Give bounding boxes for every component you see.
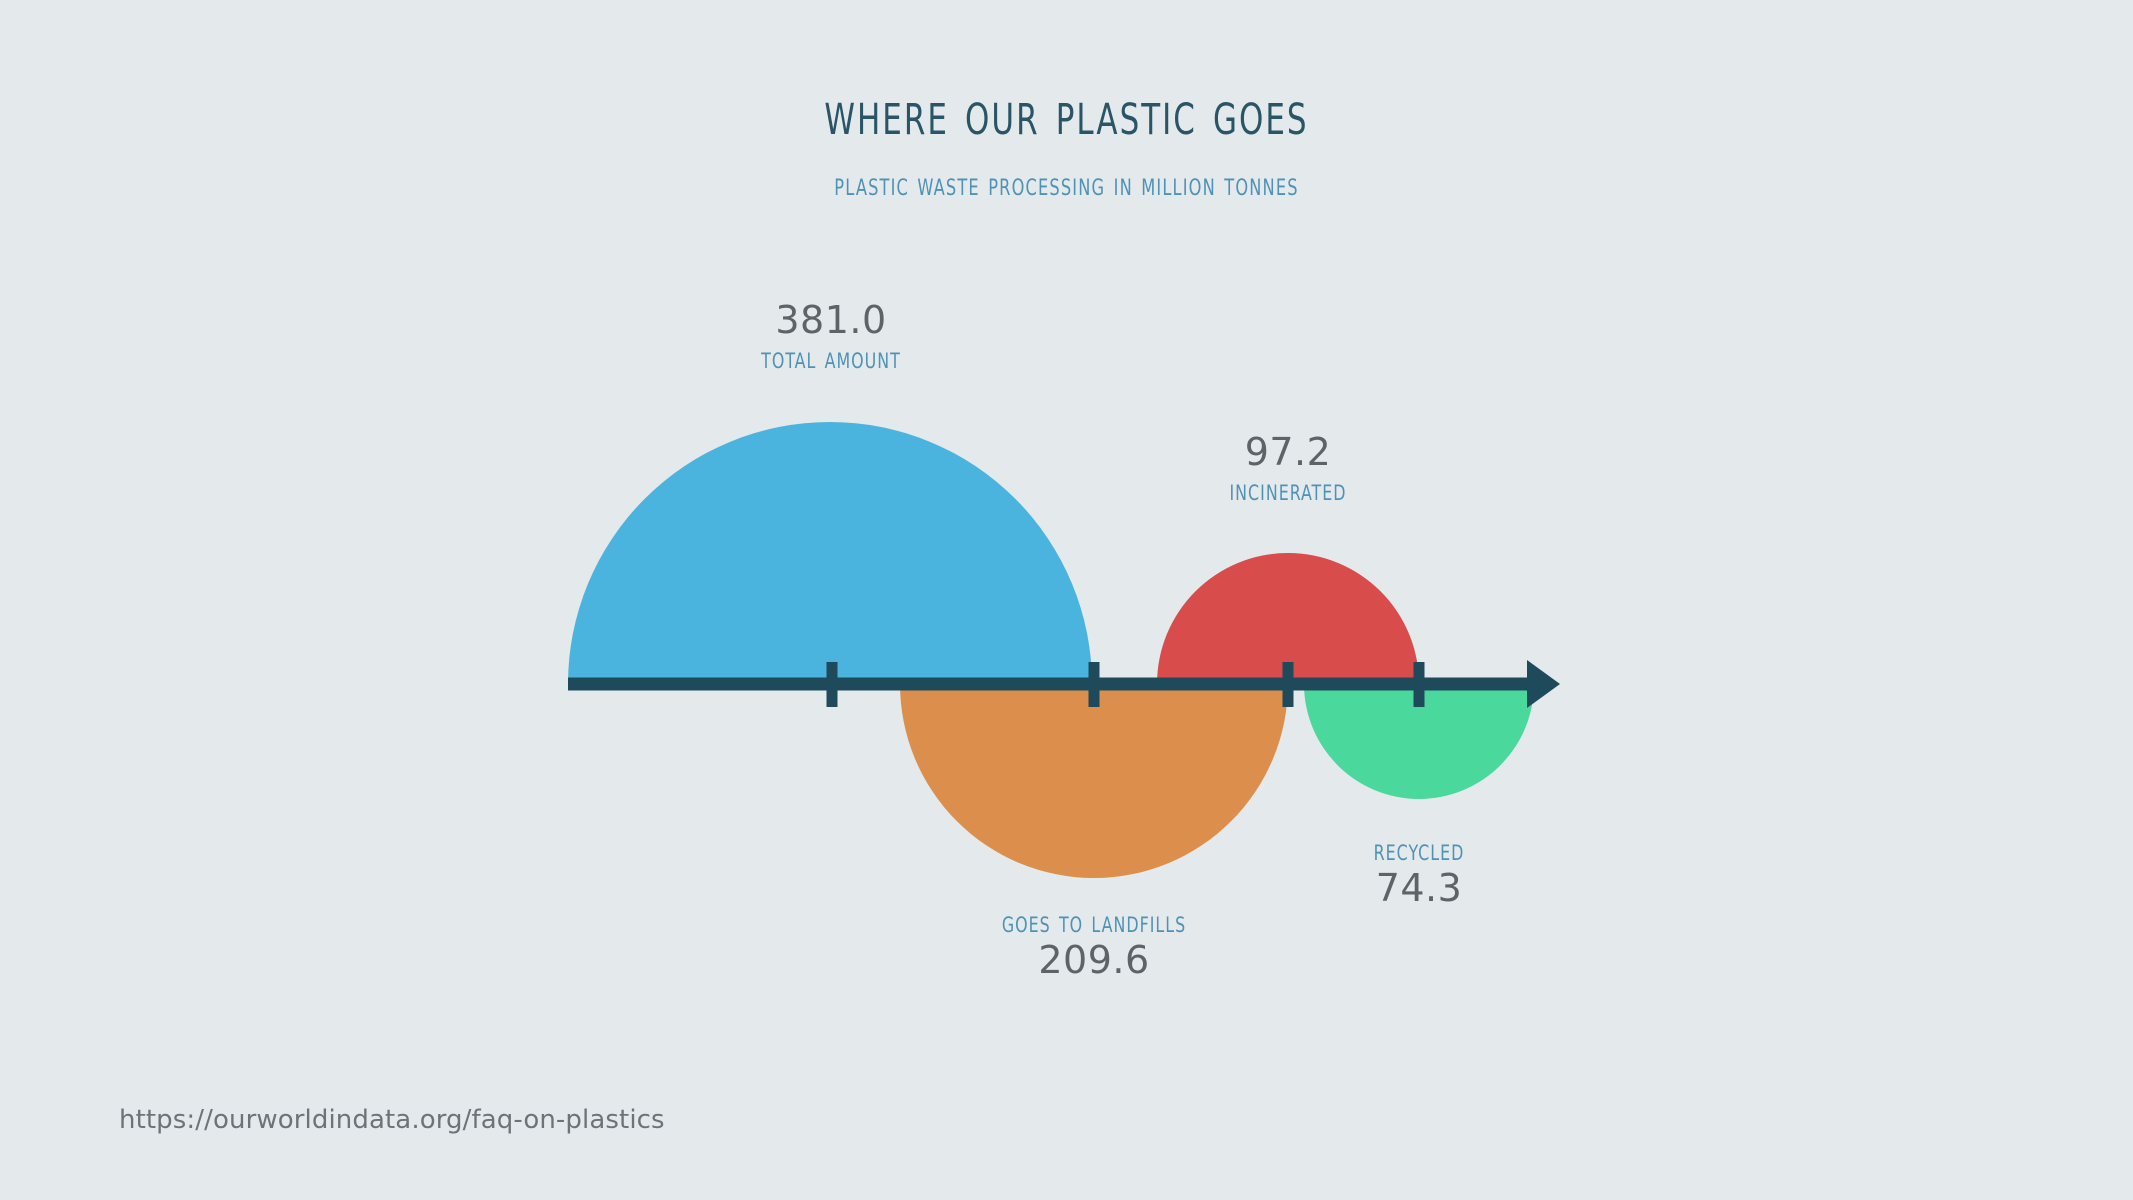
infographic-canvas: Where Our Plastic Goes Plastic waste pro… [0, 0, 2133, 1200]
plastic-flow-chart [0, 0, 2133, 1200]
source-url[interactable]: https://ourworldindata.org/faq-on-plasti… [119, 1105, 665, 1135]
axis-arrow-icon [1527, 660, 1560, 708]
